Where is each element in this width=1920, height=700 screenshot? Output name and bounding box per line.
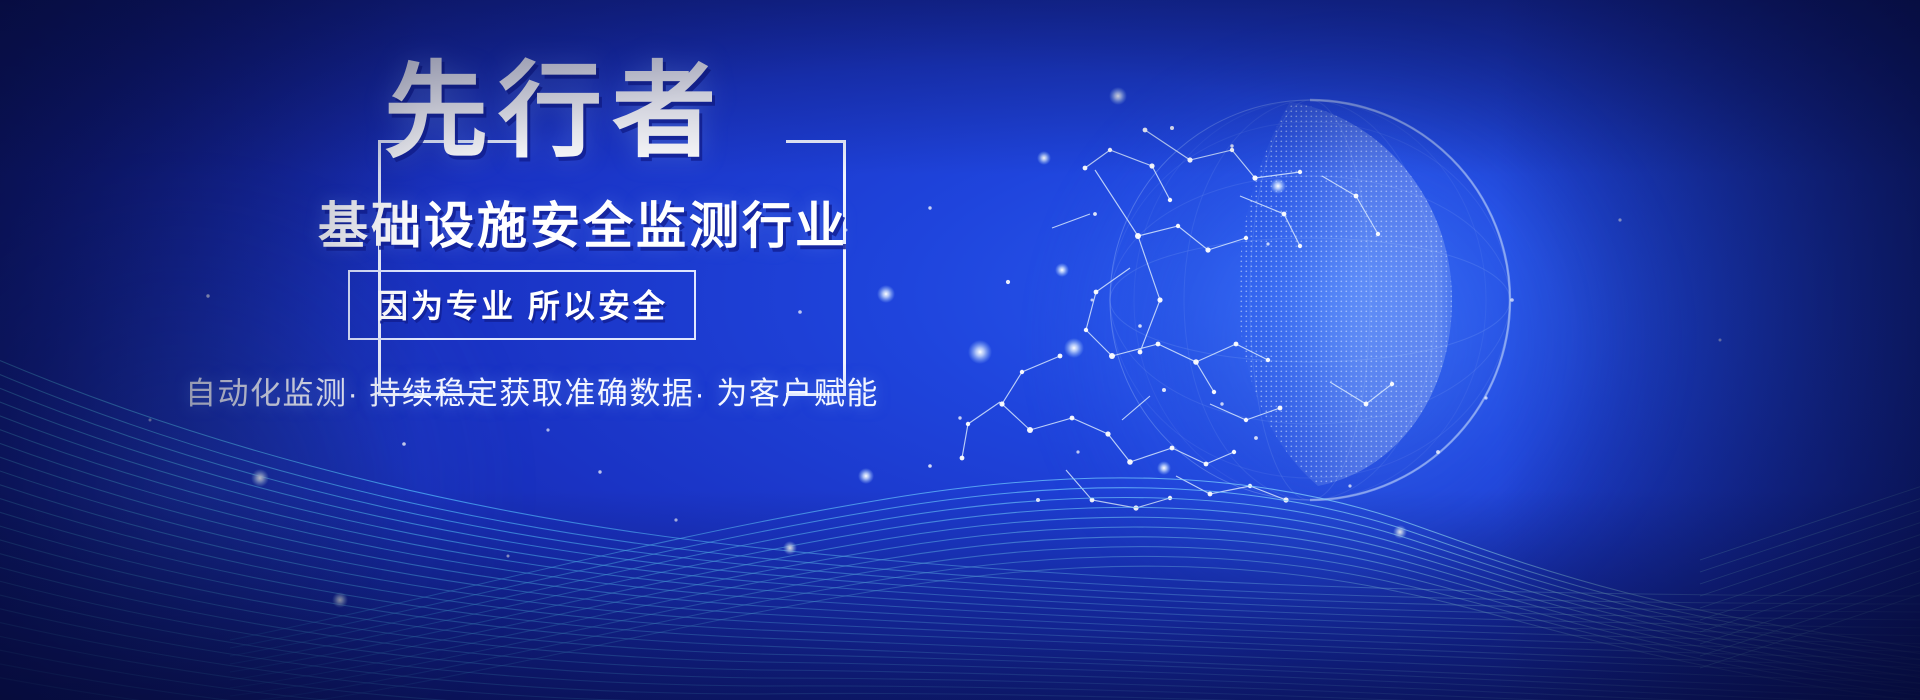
hero-banner: 先行者 基础设施安全监测行业 因为专业 所以安全 自动化监测· 持续稳定获取准确… (0, 0, 1920, 700)
background-vignette (0, 0, 1920, 700)
